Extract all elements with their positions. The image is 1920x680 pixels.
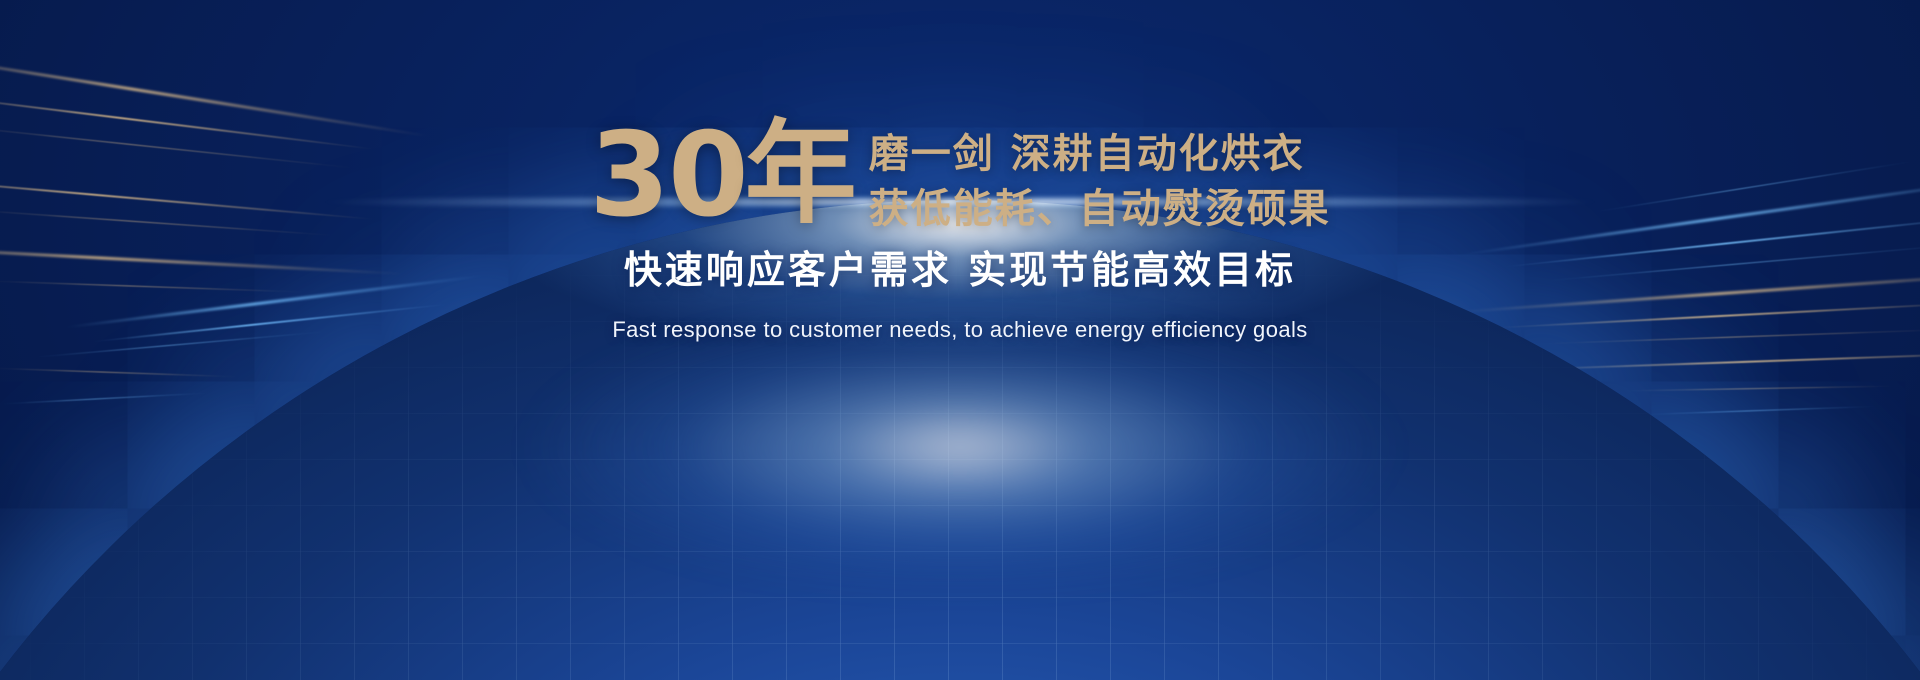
- gold-slogan-block: 磨一剑 深耕自动化烘衣 获低能耗、自动熨烫硕果: [869, 118, 1331, 232]
- banner-content: 30 年 磨一剑 深耕自动化烘衣 获低能耗、自动熨烫硕果 快速响应客户需求 实现…: [0, 118, 1920, 343]
- promo-banner: 30 年 磨一剑 深耕自动化烘衣 获低能耗、自动熨烫硕果 快速响应客户需求 实现…: [0, 0, 1920, 680]
- streak-gold-right-5: [1620, 386, 1900, 392]
- headline-unit: 年: [745, 118, 857, 230]
- gold-slogan-line-1: 磨一剑 深耕自动化烘衣: [869, 132, 1331, 177]
- english-subtitle: Fast response to customer needs, to achi…: [0, 317, 1920, 343]
- streak-blue-left-4: [0, 393, 210, 405]
- white-slogan-line: 快速响应客户需求 实现节能高效目标: [0, 248, 1920, 294]
- headline-row: 30 年 磨一剑 深耕自动化烘衣 获低能耗、自动熨烫硕果: [0, 118, 1920, 232]
- streak-blue-right-5: [1640, 406, 1880, 415]
- streak-gold-left-8: [0, 368, 240, 378]
- headline-number: 30: [589, 120, 746, 231]
- gold-slogan-line-2: 获低能耗、自动熨烫硕果: [869, 187, 1331, 232]
